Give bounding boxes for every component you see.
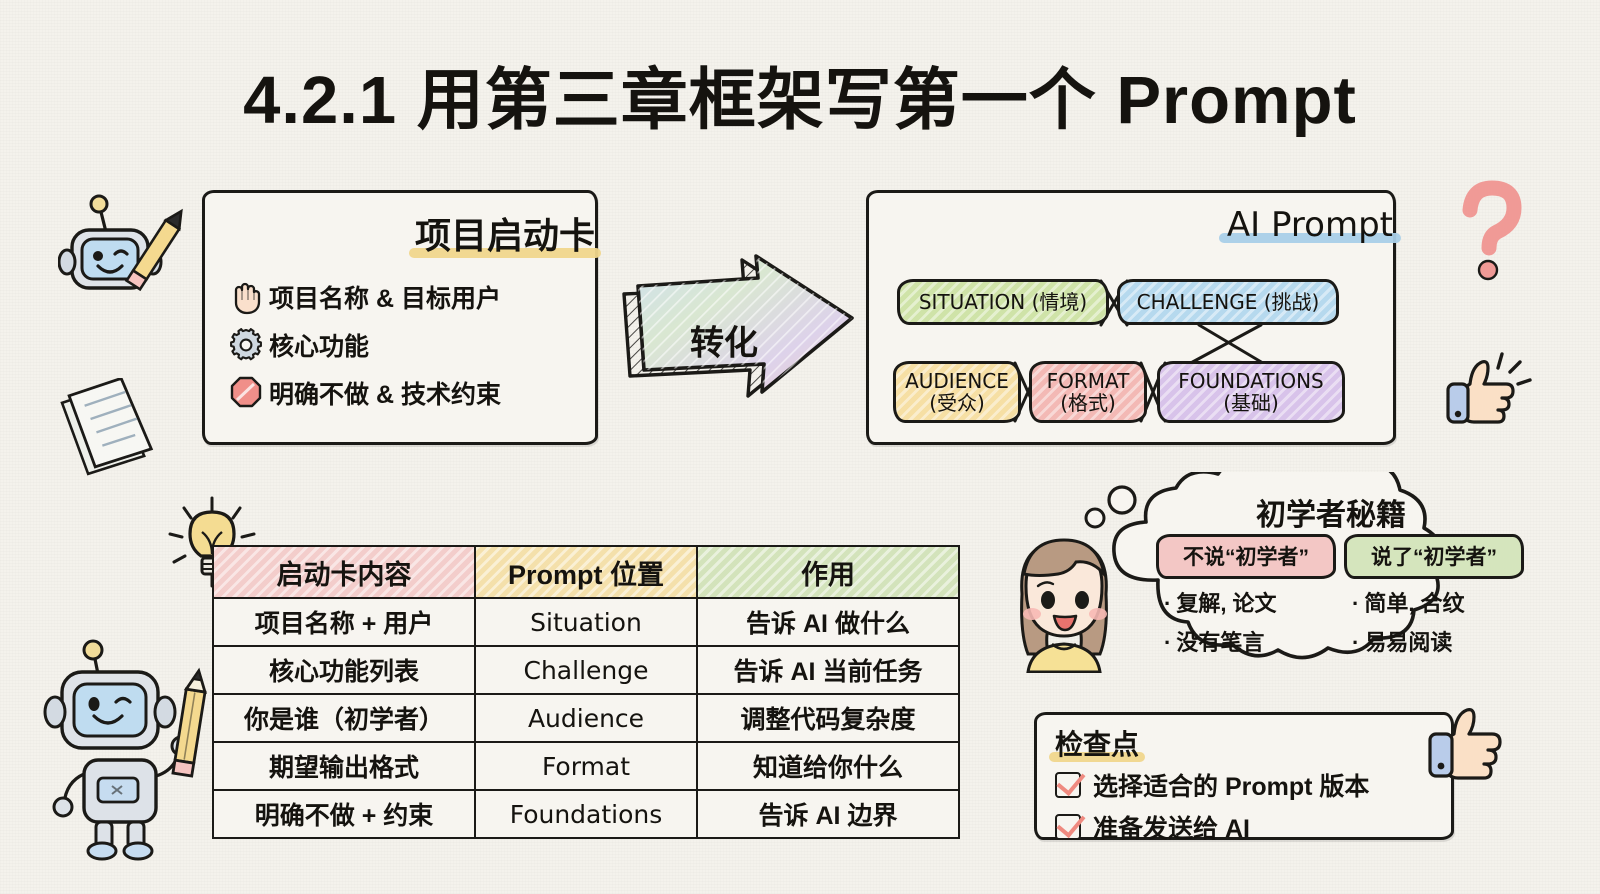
table-cell-content: 你是谁（初学者）: [213, 694, 475, 742]
table-cell-position: Foundations: [475, 790, 697, 838]
raised-hand-icon: [223, 279, 269, 315]
tips-heading-use: 说了“初学者”: [1344, 534, 1524, 579]
table-cell-purpose: 知道给你什么: [697, 742, 959, 790]
table-cell-purpose: 告诉 AI 边界: [697, 790, 959, 838]
checkpoint-item[interactable]: 选择适合的 Prompt 版本: [1055, 765, 1451, 805]
table-row: 明确不做 + 约束 Foundations 告诉 AI 边界: [213, 790, 959, 838]
checkpoint-title: 检查点: [1055, 723, 1139, 763]
pill-format-label-en: FORMAT: [1047, 370, 1130, 392]
pill-audience-label-cn: (受众): [905, 392, 1009, 414]
bullet-dot: ·: [1164, 630, 1171, 655]
tips-item-label: 简单, 合纹: [1364, 591, 1464, 616]
pill-format[interactable]: FORMAT (格式): [1029, 361, 1147, 423]
table-header-cell: 启动卡内容: [213, 546, 475, 598]
table-cell-position: Audience: [475, 694, 697, 742]
table-cell-content: 核心功能列表: [213, 646, 475, 694]
pill-audience[interactable]: AUDIENCE (受众): [893, 361, 1021, 423]
table-row: 你是谁（初学者） Audience 调整代码复杂度: [213, 694, 959, 742]
right-arrow-icon: 转化: [612, 252, 870, 428]
table-header-cell: Prompt 位置: [475, 546, 697, 598]
checkpoint-box: 检查点 选择适合的 Prompt 版本 准备发送给 AI: [1034, 712, 1454, 840]
pill-foundations-label-en: FOUNDATIONS: [1178, 370, 1324, 392]
table-cell-content: 明确不做 + 约束: [213, 790, 475, 838]
checkpoint-item[interactable]: 准备发送给 AI: [1055, 807, 1451, 847]
kickoff-card-item-label: 明确不做 & 技术约束: [269, 375, 501, 411]
gear-icon: [223, 328, 269, 362]
arrow-label: 转化: [612, 316, 836, 365]
tips-title: 初学者秘籍: [1096, 490, 1566, 534]
tips-item-label: 没有笔言: [1176, 630, 1264, 655]
tips-column-avoid: 不说“初学者” ·复解, 论文 ·没有笔言: [1156, 534, 1336, 657]
pill-format-label-cn: (格式): [1047, 392, 1130, 414]
table-row: 核心功能列表 Challenge 告诉 AI 当前任务: [213, 646, 959, 694]
pill-foundations[interactable]: FOUNDATIONS (基础): [1157, 361, 1345, 423]
pill-challenge-label: CHALLENGE (挑战): [1137, 291, 1320, 313]
document-stack-icon: [58, 378, 168, 478]
tips-item-label: 易易阅读: [1364, 630, 1452, 655]
robot-full-body-with-pencil-icon: [36, 634, 226, 864]
table-row: 期望输出格式 Format 知道给你什么: [213, 742, 959, 790]
ai-prompt-title: AI Prompt: [1227, 205, 1393, 245]
pill-situation[interactable]: SITUATION (情境): [897, 279, 1109, 325]
question-mark-icon: [1456, 178, 1534, 290]
bullet-dot: ·: [1164, 591, 1171, 616]
tips-cloud: 初学者秘籍 不说“初学者” ·复解, 论文 ·没有笔言 说了“初学者” ·简单,…: [1096, 472, 1566, 684]
tips-item-label: 复解, 论文: [1176, 591, 1276, 616]
table-cell-purpose: 告诉 AI 做什么: [697, 598, 959, 646]
tips-title-text: 初学者秘籍: [1256, 490, 1406, 534]
kickoff-card-item: 项目名称 & 目标用户: [223, 273, 595, 321]
pill-audience-label-en: AUDIENCE: [905, 370, 1009, 392]
tips-item: ·易易阅读: [1344, 625, 1524, 657]
table-header-row: 启动卡内容 Prompt 位置 作用: [213, 546, 959, 598]
pill-situation-label: SITUATION (情境): [919, 291, 1087, 313]
thumbs-up-icon: [1422, 686, 1518, 796]
table-cell-position: Format: [475, 742, 697, 790]
pill-foundations-label-cn: (基础): [1178, 392, 1324, 414]
kickoff-card-item: 核心功能: [223, 321, 595, 369]
pill-challenge[interactable]: CHALLENGE (挑战): [1117, 279, 1339, 325]
table-cell-position: Challenge: [475, 646, 697, 694]
kickoff-card: 项目启动卡 项目名称 & 目标用户 核心功能: [202, 190, 598, 445]
bullet-dot: ·: [1352, 591, 1359, 616]
kickoff-card-items: 项目名称 & 目标用户 核心功能 明确不做 & 技术约束: [223, 273, 595, 417]
robot-head-with-pencil-icon: [58, 192, 188, 312]
table-cell-purpose: 调整代码复杂度: [697, 694, 959, 742]
kickoff-card-item-label: 项目名称 & 目标用户: [269, 279, 501, 315]
kickoff-card-item-label: 核心功能: [269, 327, 369, 363]
bullet-dot: ·: [1352, 630, 1359, 655]
checkpoint-item-label: 选择适合的 Prompt 版本: [1093, 767, 1369, 803]
table-cell-position: Situation: [475, 598, 697, 646]
checkpoint-item-label: 准备发送给 AI: [1093, 809, 1250, 845]
mapping-table: 启动卡内容 Prompt 位置 作用 项目名称 + 用户 Situation 告…: [212, 545, 960, 839]
table-cell-content: 期望输出格式: [213, 742, 475, 790]
girl-avatar-icon: [1004, 528, 1124, 673]
tips-column-use: 说了“初学者” ·简单, 合纹 ·易易阅读: [1344, 534, 1524, 657]
stop-sign-icon: [223, 376, 269, 410]
kickoff-card-title: 项目启动卡: [415, 207, 595, 259]
table-cell-purpose: 告诉 AI 当前任务: [697, 646, 959, 694]
kickoff-card-item: 明确不做 & 技术约束: [223, 369, 595, 417]
ai-prompt-box: AI Prompt SITUATION (情境) CHALLENGE (挑战) …: [866, 190, 1396, 445]
thumbs-up-icon: [1440, 338, 1536, 434]
tips-item: ·复解, 论文: [1156, 586, 1336, 618]
tips-item: ·没有笔言: [1156, 625, 1336, 657]
checkbox-checked-icon[interactable]: [1055, 814, 1081, 840]
page-title: 4.2.1 用第三章框架写第一个 Prompt: [0, 46, 1600, 143]
tips-item: ·简单, 合纹: [1344, 586, 1524, 618]
table-cell-content: 项目名称 + 用户: [213, 598, 475, 646]
checkbox-checked-icon[interactable]: [1055, 772, 1081, 798]
tips-heading-avoid: 不说“初学者”: [1156, 534, 1336, 579]
table-row: 项目名称 + 用户 Situation 告诉 AI 做什么: [213, 598, 959, 646]
table-header-cell: 作用: [697, 546, 959, 598]
